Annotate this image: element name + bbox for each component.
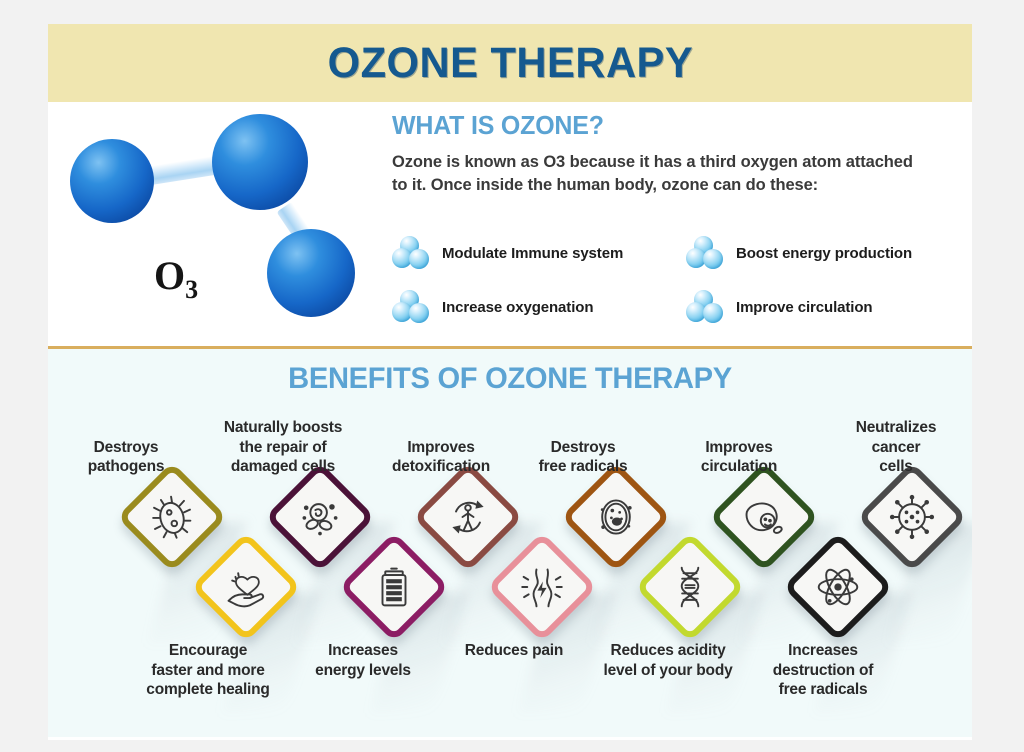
cell-nucleus-icon xyxy=(583,484,649,550)
benefit-diamond-2[interactable] xyxy=(191,532,301,642)
list-item: Modulate Immune system xyxy=(392,226,686,280)
oxygen-atom-3 xyxy=(267,229,355,317)
benefits-section: BENEFITS OF OZONE THERAPY Destroys patho… xyxy=(48,349,972,737)
what-is-ozone-section: O3 WHAT IS OZONE? Ozone is known as O3 b… xyxy=(48,102,972,349)
page-title: OZONE THERAPY xyxy=(327,39,693,88)
benefit-diamond-5[interactable] xyxy=(413,462,523,572)
detox-cycle-icon xyxy=(435,484,501,550)
list-item-label: Modulate Immune system xyxy=(442,245,623,262)
what-is-ozone-paragraph: Ozone is known as O3 because it has a th… xyxy=(392,151,932,198)
infographic-poster: OZONE THERAPY O3 WHAT IS OZONE? Ozone is… xyxy=(48,24,972,740)
benefit-label-2: Encourage faster and more complete heali… xyxy=(146,641,269,700)
benefit-diamond-11[interactable] xyxy=(857,462,967,572)
benefit-diamond-7[interactable] xyxy=(561,462,671,572)
benefit-diamond-9[interactable] xyxy=(709,462,819,572)
ozone-bubbles-icon xyxy=(686,236,724,270)
ozone-bubbles-icon xyxy=(392,290,430,324)
benefit-label-3: Naturally boosts the repair of damaged c… xyxy=(224,418,342,477)
benefit-label-7: Destroys free radicals xyxy=(539,438,628,477)
formula-subscript: 3 xyxy=(185,275,198,304)
ozone-effects-list: Modulate Immune system Boost energy prod… xyxy=(392,226,970,334)
oxygen-atom-1 xyxy=(70,139,154,223)
bacteria-icon xyxy=(139,484,205,550)
benefit-label-6: Reduces pain xyxy=(465,641,563,661)
benefit-diamond-8[interactable] xyxy=(635,532,745,642)
header-band: OZONE THERAPY xyxy=(48,24,972,102)
ozone-bubbles-icon xyxy=(392,236,430,270)
what-is-ozone-text-block: WHAT IS OZONE? Ozone is known as O3 beca… xyxy=(392,110,962,198)
formula-letter: O xyxy=(154,253,185,298)
benefit-label-4: Increases energy levels xyxy=(315,641,411,680)
list-item-label: Increase oxygenation xyxy=(442,299,593,316)
benefit-label-11: Neutralizes cancer cells xyxy=(856,418,937,477)
benefit-label-9: Improves circulation xyxy=(701,438,777,477)
ozone-molecule-graphic: O3 xyxy=(52,102,382,346)
list-item: Improve circulation xyxy=(686,280,970,334)
dna-helix-icon xyxy=(657,554,723,620)
battery-icon xyxy=(361,554,427,620)
benefits-labels-bottom: Encourage faster and more complete heali… xyxy=(48,641,972,711)
benefit-label-8: Reduces acidity level of your body xyxy=(603,641,732,680)
benefit-diamond-10[interactable] xyxy=(783,532,893,642)
what-is-ozone-heading: WHAT IS OZONE? xyxy=(392,110,939,141)
cells-repair-icon xyxy=(287,484,353,550)
blood-cell-icon xyxy=(731,484,797,550)
virus-icon xyxy=(879,484,945,550)
benefits-labels-top: Destroys pathogensNaturally boosts the r… xyxy=(48,407,972,477)
benefit-diamond-4[interactable] xyxy=(339,532,449,642)
list-item: Boost energy production xyxy=(686,226,970,280)
atom-icon xyxy=(805,554,871,620)
benefit-label-1: Destroys pathogens xyxy=(88,438,165,477)
benefit-diamond-6[interactable] xyxy=(487,532,597,642)
heart-in-hand-icon xyxy=(213,554,279,620)
benefit-diamond-3[interactable] xyxy=(265,462,375,572)
joint-pain-icon xyxy=(509,554,575,620)
benefit-label-10: Increases destruction of free radicals xyxy=(773,641,874,700)
list-item-label: Improve circulation xyxy=(736,299,872,316)
benefit-diamond-1[interactable] xyxy=(117,462,227,572)
molecule-formula-label: O3 xyxy=(154,252,198,305)
list-item-label: Boost energy production xyxy=(736,245,912,262)
benefit-label-5: Improves detoxification xyxy=(392,438,490,477)
oxygen-atom-2 xyxy=(212,114,308,210)
ozone-bubbles-icon xyxy=(686,290,724,324)
list-item: Increase oxygenation xyxy=(392,280,686,334)
